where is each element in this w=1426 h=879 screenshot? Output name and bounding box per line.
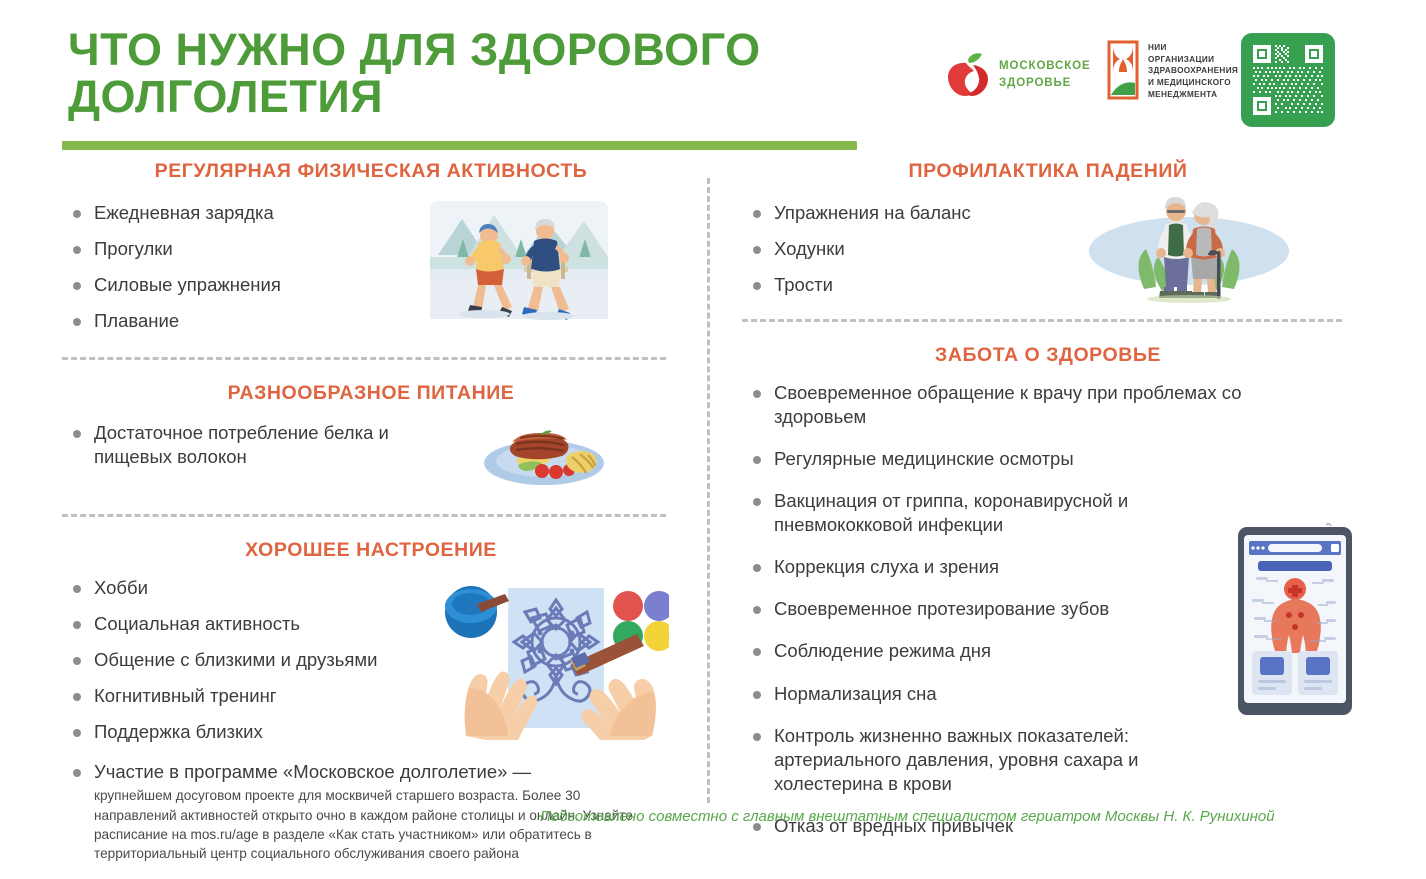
list-item: Плавание xyxy=(62,309,422,333)
page-title-line2: ДОЛГОЛЕТИЯ xyxy=(68,73,868,120)
list-item: Силовые упражнения xyxy=(62,273,422,297)
section-physical-activity: РЕГУЛЯРНАЯ ФИЗИЧЕСКАЯ АКТИВНОСТЬ Ежеднев… xyxy=(62,160,680,360)
section-heading-good-mood: ХОРОШЕЕ НАСТРОЕНИЕ xyxy=(62,539,680,562)
list-item: Упражнения на баланс xyxy=(742,201,1082,225)
list-physical-activity: Ежедневная зарядка Прогулки Силовые упра… xyxy=(62,197,422,345)
section-heading-nutrition: РАЗНООБРАЗНОЕ ПИТАНИЕ xyxy=(62,382,680,405)
list-item: Поддержка близких xyxy=(62,720,462,744)
list-item: Своевременное протезирование зубов xyxy=(742,597,1234,621)
section-heading-fall-prevention: ПРОФИЛАКТИКА ПАДЕНИЙ xyxy=(742,160,1354,183)
page-title: ЧТО НУЖНО ДЛЯ ЗДОРОВОГО ДОЛГОЛЕТИЯ xyxy=(68,26,868,121)
nii-logo-line5: МЕНЕДЖМЕНТА xyxy=(1148,89,1238,101)
section-nutrition: РАЗНООБРАЗНОЕ ПИТАНИЕ Достаточное потреб… xyxy=(62,382,680,517)
plate-with-steak-and-vegetables-illustration xyxy=(464,411,624,496)
logo-group: МОСКОВСКОЕ ЗДОРОВЬЕ НИИ О xyxy=(946,33,1366,133)
list-item: Прогулки xyxy=(62,237,422,261)
list-good-mood: Хобби Социальная активность Общение с бл… xyxy=(62,576,462,756)
section-health-care: ЗАБОТА О ЗДОРОВЬЕ Своевременное обращени… xyxy=(742,344,1354,838)
nii-logo-line4: И МЕДИЦИНСКОГО xyxy=(1148,77,1238,89)
list-item: Соблюдение режима дня xyxy=(742,639,1234,663)
column-divider xyxy=(707,178,710,803)
divider-dashed xyxy=(62,514,666,517)
elderly-couple-walking-park-illustration xyxy=(428,197,610,328)
moscow-health-logo-text: МОСКОВСКОЕ ЗДОРОВЬЕ xyxy=(999,58,1091,91)
moscow-health-logo-line1: МОСКОВСКОЕ xyxy=(999,58,1091,75)
nii-logo-line3: ЗДРАВООХРАНЕНИЯ xyxy=(1148,65,1238,77)
page-title-line1: ЧТО НУЖНО ДЛЯ ЗДОРОВОГО xyxy=(68,24,761,75)
list-fall-prevention: Упражнения на баланс Ходунки Трости xyxy=(742,197,1082,309)
nii-emblem-icon xyxy=(1106,39,1140,101)
page-header: ЧТО НУЖНО ДЛЯ ЗДОРОВОГО ДОЛГОЛЕТИЯ МОСКО… xyxy=(0,0,1426,150)
moscow-health-logo: МОСКОВСКОЕ ЗДОРОВЬЕ xyxy=(946,52,1091,98)
nii-logo-text: НИИ ОРГАНИЗАЦИИ ЗДРАВООХРАНЕНИЯ И МЕДИЦИ… xyxy=(1148,39,1238,100)
list-item-lead: Участие в программе «Московское долголет… xyxy=(94,761,531,782)
infographic-page: ЧТО НУЖНО ДЛЯ ЗДОРОВОГО ДОЛГОЛЕТИЯ МОСКО… xyxy=(0,0,1426,879)
left-column: РЕГУЛЯРНАЯ ФИЗИЧЕСКАЯ АКТИВНОСТЬ Ежеднев… xyxy=(62,160,680,863)
list-item: Достаточное потребление белка и пищевых … xyxy=(62,421,462,469)
list-item: Коррекция слуха и зрения xyxy=(742,555,1234,579)
list-item: Социальная активность xyxy=(62,612,462,636)
apple-leaf-icon xyxy=(946,52,990,98)
footer-note: Подготовлено совместно с главным внештат… xyxy=(540,808,1400,825)
list-health-care: Своевременное обращение к врачу при проб… xyxy=(742,381,1234,838)
nii-logo-line1: НИИ xyxy=(1148,42,1238,54)
list-item: Регулярные медицинские осмотры xyxy=(742,447,1234,471)
list-item: Своевременное обращение к врачу при проб… xyxy=(742,381,1244,429)
list-item: Общение с близкими и друзьями xyxy=(62,648,524,672)
list-nutrition: Достаточное потребление белка и пищевых … xyxy=(62,419,462,481)
tablet-health-app-illustration xyxy=(1234,523,1356,728)
divider-dashed xyxy=(62,357,666,360)
moscow-health-logo-line2: ЗДОРОВЬЕ xyxy=(999,75,1091,92)
divider-dashed xyxy=(742,319,1342,322)
nii-logo-line2: ОРГАНИЗАЦИИ xyxy=(1148,54,1238,66)
section-heading-physical-activity: РЕГУЛЯРНАЯ ФИЗИЧЕСКАЯ АКТИВНОСТЬ xyxy=(62,160,680,183)
list-item: Вакцинация от гриппа, коронавирусной и п… xyxy=(742,489,1214,537)
title-underline-bar xyxy=(62,141,857,150)
list-item: Когнитивный тренинг xyxy=(62,684,462,708)
elderly-couple-with-cane-illustration xyxy=(1084,189,1294,309)
right-column: ПРОФИЛАКТИКА ПАДЕНИЙ Упражнения на балан… xyxy=(742,160,1354,856)
section-fall-prevention: ПРОФИЛАКТИКА ПАДЕНИЙ Упражнения на балан… xyxy=(742,160,1354,322)
list-item: Трости xyxy=(742,273,1082,297)
list-item: Ходунки xyxy=(742,237,1082,261)
list-item: Хобби xyxy=(62,576,462,600)
nii-logo: НИИ ОРГАНИЗАЦИИ ЗДРАВООХРАНЕНИЯ И МЕДИЦИ… xyxy=(1106,39,1238,101)
qr-code[interactable] xyxy=(1241,33,1335,127)
section-heading-health-care: ЗАБОТА О ЗДОРОВЬЕ xyxy=(742,344,1354,367)
list-item: Ежедневная зарядка xyxy=(62,201,422,225)
list-item: Контроль жизненно важных показателей: ар… xyxy=(742,724,1244,796)
list-item: Нормализация сна xyxy=(742,682,1234,706)
